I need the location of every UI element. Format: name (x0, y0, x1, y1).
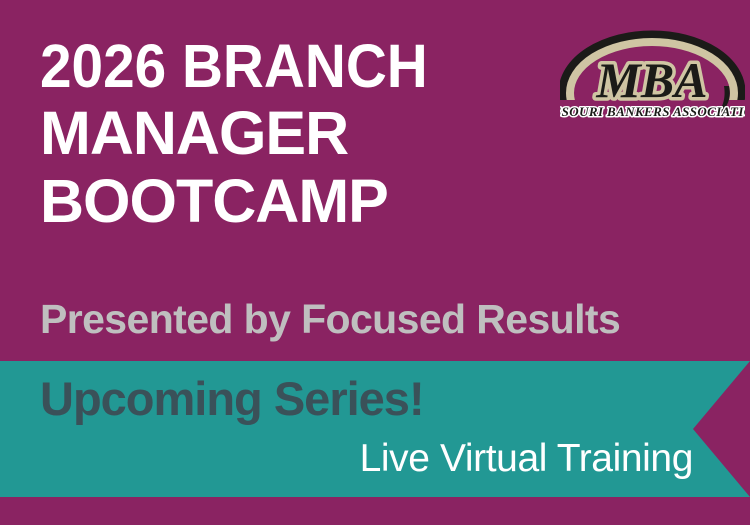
ribbon-subheading: Live Virtual Training (360, 437, 693, 481)
logo-acronym: MBA (595, 52, 707, 108)
event-promo-banner: 2026 BRANCH MANAGER BOOTCAMP Presented b… (0, 0, 750, 525)
title-line-year-branch: 2026 BRANCH (40, 38, 533, 95)
logo-fullname: MISSOURI BANKERS ASSOCIATION (560, 104, 745, 119)
ribbon-band: Upcoming Series! Live Virtual Training (0, 361, 750, 497)
ribbon-heading: Upcoming Series! (40, 371, 424, 426)
mba-logo-graphic: MBA MBA MISSOURI BANKERS ASSOCIATION MIS… (560, 26, 745, 126)
presenter-subtitle: Presented by Focused Results (40, 296, 620, 343)
page-title: 2026 BRANCH MANAGER BOOTCAMP (40, 38, 570, 230)
mba-logo: MBA MBA MISSOURI BANKERS ASSOCIATION MIS… (560, 26, 745, 126)
title-line-bootcamp: BOOTCAMP (40, 173, 570, 230)
title-line-manager: MANAGER (40, 105, 570, 162)
